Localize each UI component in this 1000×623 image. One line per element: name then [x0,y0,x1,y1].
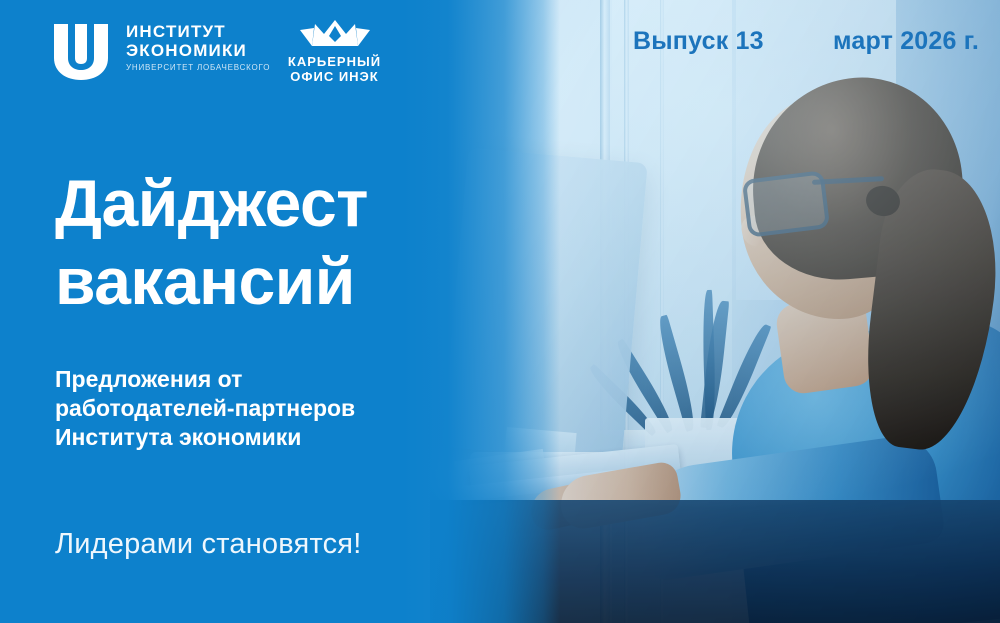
poster-subtitle-line2: работодателей-партнеров [55,394,485,423]
career-office-line1: КАРЬЕРНЫЙ [272,54,397,69]
institute-name-line1: ИНСТИТУТ [126,22,270,41]
crown-mark-icon [292,16,378,50]
poster-subtitle-line3: Института экономики [55,423,485,452]
institute-name-line2: ЭКОНОМИКИ [126,41,270,60]
poster-header: ИНСТИТУТ ЭКОНОМИКИ УНИВЕРСИТЕТ ЛОБАЧЕВСК… [0,0,1000,100]
career-office-logo: КАРЬЕРНЫЙ ОФИС ИНЭК [272,16,397,84]
poster-title-line1: Дайджест [55,164,525,242]
issue-date: март 2026 г. [833,27,979,56]
poster-tagline: Лидерами становятся! [55,528,361,561]
institute-logo: ИНСТИТУТ ЭКОНОМИКИ УНИВЕРСИТЕТ ЛОБАЧЕВСК… [50,18,270,84]
u-shield-logo-icon [50,18,112,84]
poster-title-line2: вакансий [55,242,525,320]
vacancy-digest-poster: ИНСТИТУТ ЭКОНОМИКИ УНИВЕРСИТЕТ ЛОБАЧЕВСК… [0,0,1000,623]
career-office-line2: ОФИС ИНЭК [272,69,397,84]
poster-subtitle-line1: Предложения от [55,365,485,394]
institute-university-subline: УНИВЕРСИТЕТ ЛОБАЧЕВСКОГО [126,63,270,72]
poster-subtitle: Предложения от работодателей-партнеров И… [55,365,485,452]
institute-logo-text: ИНСТИТУТ ЭКОНОМИКИ УНИВЕРСИТЕТ ЛОБАЧЕВСК… [126,18,270,72]
poster-title: Дайджест вакансий [55,164,525,320]
issue-number: Выпуск 13 [633,27,764,56]
